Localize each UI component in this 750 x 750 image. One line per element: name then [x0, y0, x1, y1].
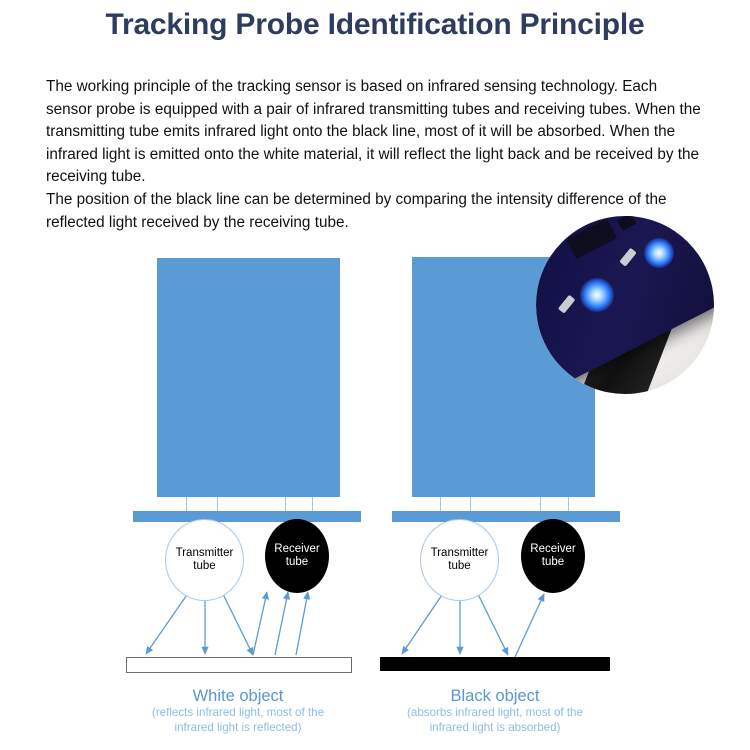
white-object-caption: White object (reflects infrared light, m…	[100, 686, 376, 735]
photo-solder-pad	[558, 295, 576, 314]
right-leg	[440, 497, 441, 512]
left-receiver-label-line2: tube	[286, 556, 308, 568]
right-leg	[470, 497, 471, 512]
right-transmitter-tube: Transmitter tube	[420, 519, 499, 601]
black-object-caption: Black object (absorbs infrared light, mo…	[357, 686, 633, 735]
white-object-title: White object	[100, 686, 376, 706]
sensor-photo	[536, 216, 714, 394]
left-leg	[186, 497, 187, 512]
left-transmitter-tube: Transmitter tube	[165, 519, 244, 601]
left-transmitter-label-line1: Transmitter	[176, 547, 234, 559]
black-object-title: Black object	[357, 686, 633, 706]
page-root: Tracking Probe Identification Principle …	[0, 0, 750, 750]
photo-solder-pad	[619, 248, 637, 267]
left-leg	[217, 497, 218, 512]
left-receiver-label-line1: Receiver	[274, 543, 319, 555]
photo-smd-part	[617, 216, 637, 231]
left-leg	[285, 497, 286, 512]
photo-blue-led	[580, 278, 614, 312]
photo-pcb-dot	[536, 216, 554, 235]
right-receiver-label-line2: tube	[542, 556, 564, 568]
left-transmitter-label-line2: tube	[193, 560, 215, 572]
black-object-sub-line1: (absorbs infrared light, most of the	[357, 706, 633, 721]
white-object-surface	[126, 657, 352, 673]
right-leg	[540, 497, 541, 512]
black-object-surface	[380, 657, 610, 671]
right-receiver-label-line1: Receiver	[530, 543, 575, 555]
left-sensor-body	[157, 258, 340, 497]
right-transmitter-label-line2: tube	[448, 560, 470, 572]
left-receiver-tube: Receiver tube	[265, 519, 329, 593]
right-transmitter-label-line1: Transmitter	[431, 547, 489, 559]
photo-ic-chip	[566, 218, 617, 258]
white-object-sub-line1: (reflects infrared light, most of the	[100, 706, 376, 721]
right-leg	[568, 497, 569, 512]
right-receiver-tube: Receiver tube	[521, 519, 585, 593]
left-leg	[312, 497, 313, 512]
right-sensor-bar	[392, 511, 620, 522]
photo-blue-led	[644, 238, 674, 268]
black-object-sub-line2: infrared light is absorbed)	[357, 721, 633, 736]
white-object-sub-line2: infrared light is reflected)	[100, 721, 376, 736]
left-sensor-bar	[133, 511, 361, 522]
